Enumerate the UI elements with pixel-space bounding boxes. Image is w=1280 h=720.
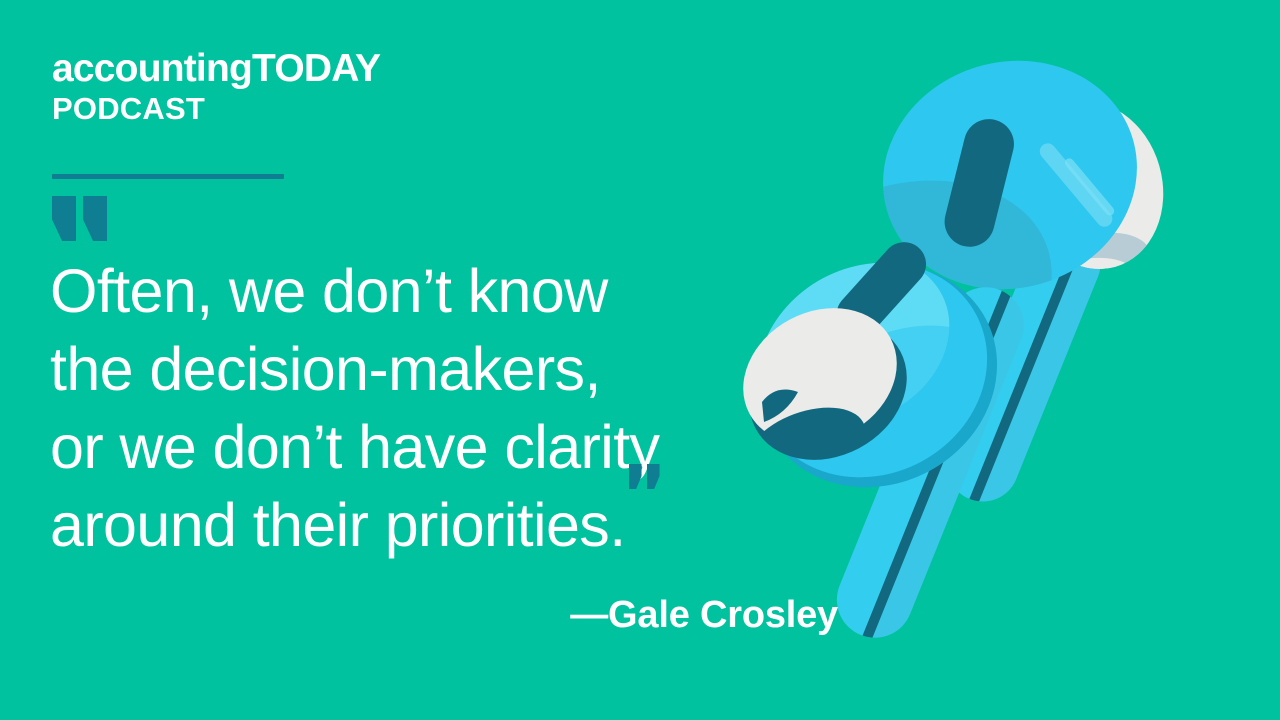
divider-rule xyxy=(52,174,284,179)
quote-line: around their priorities. xyxy=(50,491,626,559)
quote-line: or we don’t have clarity xyxy=(50,408,770,486)
quote-text: Often, we don’t know the decision-makers… xyxy=(50,252,770,564)
open-quote-icon xyxy=(52,196,142,250)
quote-attribution: —Gale Crosley xyxy=(0,592,838,638)
podcast-quote-card: accountingTODAY PODCAST Often, we don’t … xyxy=(0,0,1280,720)
quote-line: the decision-makers, xyxy=(50,330,770,408)
logo-subtitle: PODCAST xyxy=(52,92,672,126)
close-quote-icon xyxy=(629,464,660,542)
logo-wordmark-secondary: TODAY xyxy=(252,47,380,90)
quote-line: Often, we don’t know xyxy=(50,252,770,330)
logo-wordmark: accountingTODAY xyxy=(52,48,672,90)
quote-line-last: around their priorities. xyxy=(50,486,770,564)
brand-logo: accountingTODAY PODCAST xyxy=(52,48,672,126)
logo-wordmark-primary: accounting xyxy=(52,47,252,90)
